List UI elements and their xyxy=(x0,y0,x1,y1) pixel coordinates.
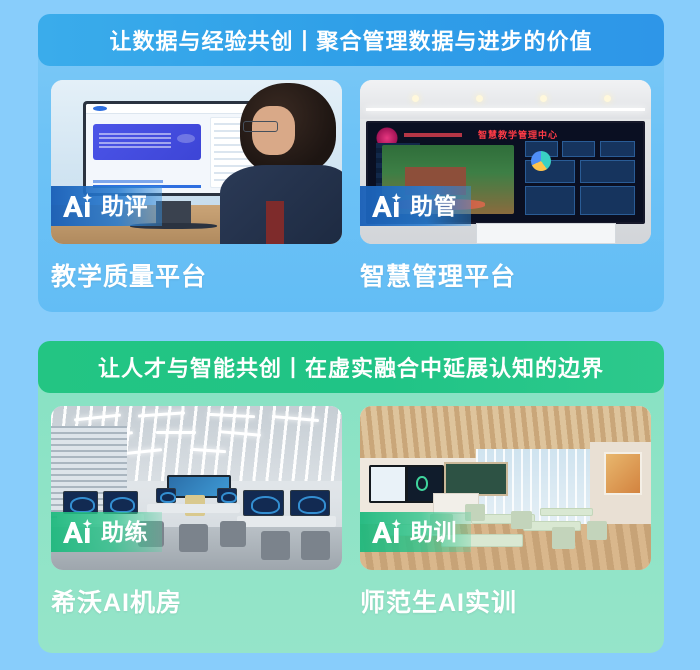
section-header-green: 让人才与智能共创丨在虚实融合中延展认知的边界 xyxy=(38,341,664,393)
card-row-blue: 助评 教学质量平台 智慧教学管理中心 xyxy=(38,80,664,293)
card-image-training-classroom: 助训 xyxy=(360,406,651,570)
card-teaching-quality-platform[interactable]: 助评 教学质量平台 xyxy=(51,80,342,293)
section-header-blue: 让数据与经验共创丨聚合管理数据与进步的价值 xyxy=(38,14,664,66)
ai-badge-assist-training: 助训 xyxy=(360,512,471,552)
ai-badge-assist-management: 助管 xyxy=(360,186,471,226)
card-smart-management-platform[interactable]: 智慧教学管理中心 xyxy=(360,80,651,293)
card-image-teacher-at-computer: 助评 xyxy=(51,80,342,244)
ai-badge-label: 助评 xyxy=(101,195,148,218)
ai-badge-assist-practice: 助练 xyxy=(51,512,162,552)
card-image-ai-computer-lab: 助练 xyxy=(51,406,342,570)
ai-logo-icon xyxy=(370,519,404,545)
ai-badge-assist-evaluation: 助评 xyxy=(51,186,162,226)
card-seewo-ai-computer-lab[interactable]: 助练 希沃AI机房 xyxy=(51,406,342,619)
card-title: 师范生AI实训 xyxy=(360,583,651,619)
card-row-green: 助练 希沃AI机房 xyxy=(38,406,664,619)
ai-badge-label: 助练 xyxy=(101,521,148,544)
ai-logo-icon xyxy=(370,193,404,219)
promo-page: 让数据与经验共创丨聚合管理数据与进步的价值 xyxy=(0,0,700,670)
ai-badge-label: 助训 xyxy=(410,521,457,544)
ai-badge-label: 助管 xyxy=(410,195,457,218)
card-title: 智慧管理平台 xyxy=(360,257,651,293)
card-student-teacher-ai-training[interactable]: 助训 师范生AI实训 xyxy=(360,406,651,619)
led-wall-title: 智慧教学管理中心 xyxy=(478,128,558,141)
card-title: 教学质量平台 xyxy=(51,257,342,293)
card-title: 希沃AI机房 xyxy=(51,583,342,619)
ai-logo-icon xyxy=(61,193,95,219)
ai-logo-icon xyxy=(61,519,95,545)
card-image-command-center: 智慧教学管理中心 xyxy=(360,80,651,244)
